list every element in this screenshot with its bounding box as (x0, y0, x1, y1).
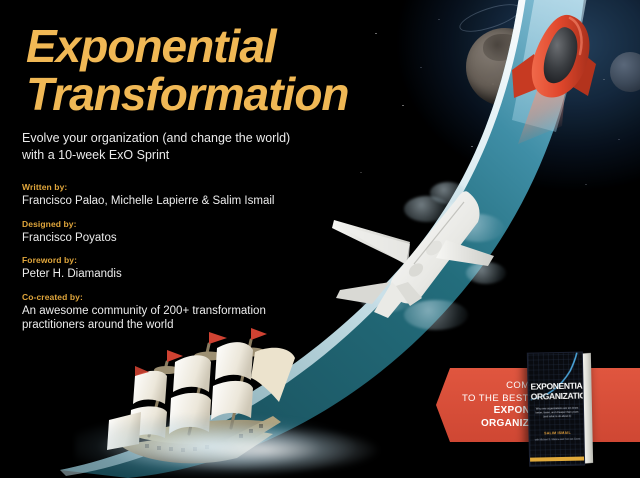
credit-value-foreword-by: Peter H. Diamandis (22, 267, 322, 282)
book-front-cover: EXPONENTIAL ORGANIZATIONS Why new organi… (527, 352, 585, 467)
page-title: Exponential Transformation (26, 22, 349, 118)
credits-block: Written by: Francisco Palao, Michelle La… (22, 181, 322, 333)
credit-value-co-created-by: An awesome community of 200+ transformat… (22, 304, 322, 333)
book-subtitle: Why new organizations are ten times bett… (534, 407, 580, 420)
book-cover: Exponential Transformation Evolve your o… (0, 0, 640, 478)
book-title: EXPONENTIAL ORGANIZATIONS (530, 380, 585, 401)
rocket-illustration (500, 8, 620, 158)
subtitle: Evolve your organization (and change the… (22, 130, 290, 163)
credit-label-co-created-by: Co-created by: (22, 291, 322, 303)
credit-value-written-by: Francisco Palao, Michelle Lapierre & Sal… (22, 194, 322, 209)
sea-foam-highlight (150, 424, 380, 476)
credit-label-foreword-by: Foreword by: (22, 254, 322, 266)
credit-label-written-by: Written by: (22, 181, 322, 193)
companion-book-thumbnail: EXPONENTIAL ORGANIZATIONS Why new organi… (527, 351, 595, 466)
airplane-illustration (318, 186, 518, 326)
credit-value-designed-by: Francisco Poyatos (22, 231, 322, 246)
credit-label-designed-by: Designed by: (22, 218, 322, 230)
book-author: SALIM ISMAIL (534, 431, 580, 437)
